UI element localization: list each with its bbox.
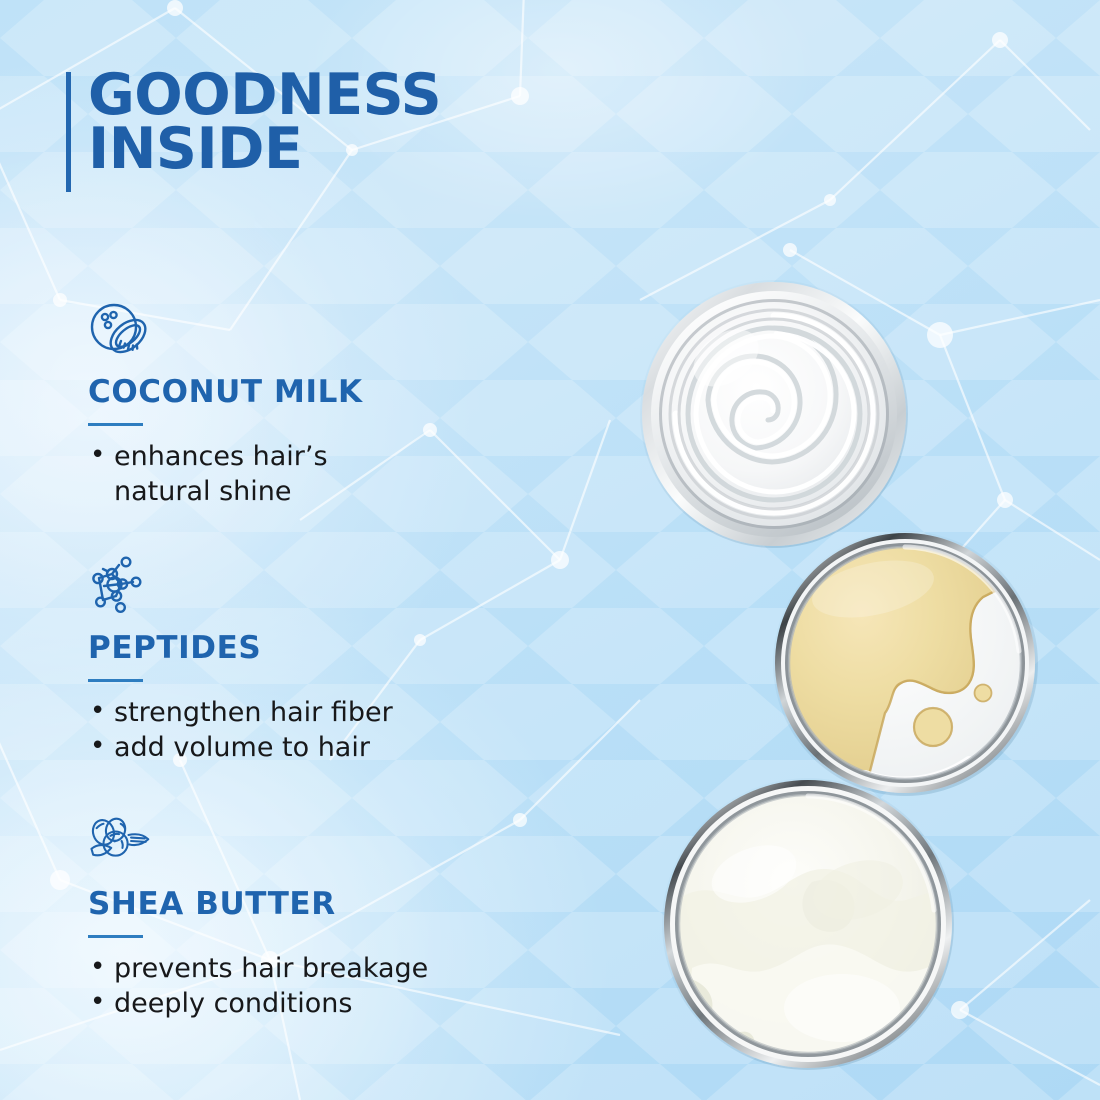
golden-oil-jar [773,531,1038,796]
ingredient-divider [88,679,143,682]
ingredient-title: COCONUT MILK [88,374,363,410]
ingredient-title: SHEA BUTTER [88,886,428,922]
benefit-line: enhances hair’s [114,441,328,472]
coconut-icon [88,300,150,358]
list-item: enhances hair’s natural shine [88,440,363,509]
list-item: deeply conditions [88,987,428,1022]
white-cream-jar [640,280,908,548]
ingredient-divider [88,935,143,938]
benefit-line-cont: natural shine [114,476,292,507]
ingredient-benefit-list: prevents hair breakage deeply conditions [88,952,428,1021]
ingredient-title: PEPTIDES [88,630,393,666]
list-item: strengthen hair fiber [88,696,393,731]
list-item: add volume to hair [88,731,393,766]
ingredient-block-peptides: PEPTIDES strengthen hair fiber add volum… [88,556,393,765]
ingredient-benefit-list: enhances hair’s natural shine [88,440,363,509]
shea-nut-icon [88,812,150,870]
ingredient-benefit-list: strengthen hair fiber add volume to hair [88,696,393,765]
title-accent-bar [66,72,71,192]
ingredient-block-shea-butter: SHEA BUTTER prevents hair breakage deepl… [88,812,428,1021]
list-item: prevents hair breakage [88,952,428,987]
goodness-inside-poster: GOODNESS INSIDE COCONUT MILK enhances ha… [0,0,1100,1100]
ingredient-divider [88,423,143,426]
shea-butter-jar [662,778,954,1070]
page-title: GOODNESS INSIDE [88,68,441,176]
ingredient-column: GOODNESS INSIDE COCONUT MILK enhances ha… [0,0,620,1100]
peptide-molecule-icon [88,556,150,614]
ingredient-block-coconut-milk: COCONUT MILK enhances hair’s natural shi… [88,300,363,509]
